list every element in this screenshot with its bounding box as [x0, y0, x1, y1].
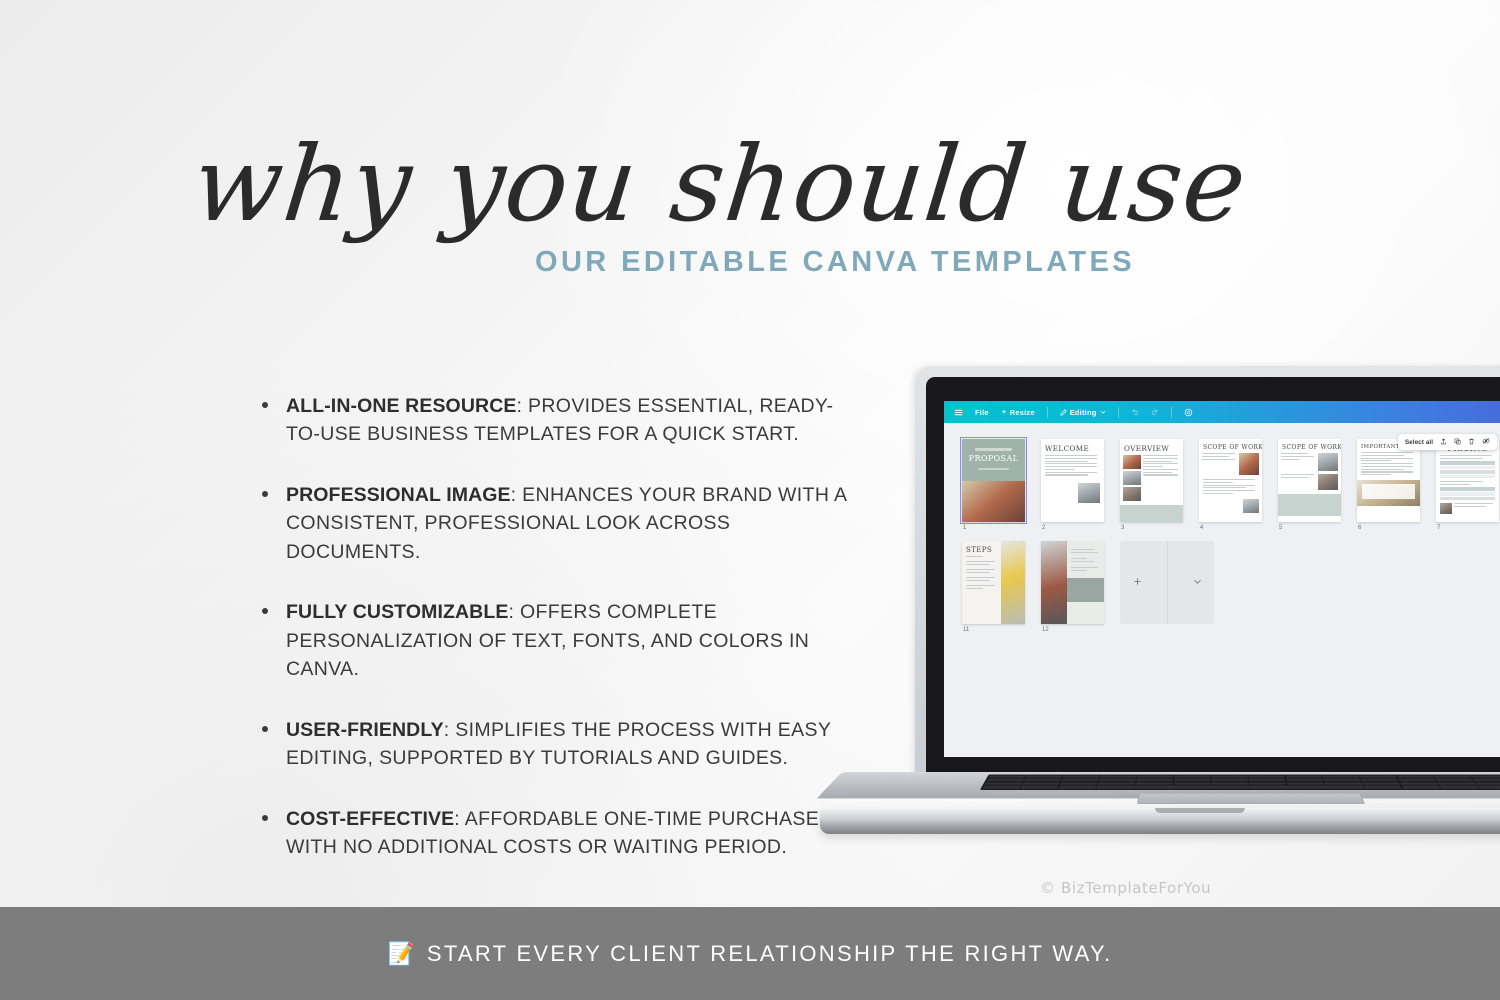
divider — [1167, 541, 1168, 624]
laptop-lid: File Resize E — [915, 366, 1500, 784]
pencil-icon — [1060, 409, 1067, 416]
page-number: 3 — [1120, 525, 1183, 531]
hide-eye-slash-icon[interactable] — [1482, 437, 1490, 447]
page-thumb-preview[interactable]: SCOPE OF WORK — [1199, 439, 1262, 522]
page-thumbnail[interactable]: WELCOME 2 — [1041, 439, 1104, 531]
memo-pencil-icon: 📝 — [387, 943, 414, 965]
page-number: 11 — [962, 627, 1025, 633]
page-title: why you should use — [0, 130, 1500, 239]
list-item-term: USER-FRIENDLY — [286, 719, 444, 741]
slide-canvas: why you should use OUR EDITABLE CANVA TE… — [0, 0, 1500, 1000]
list-item-term: ALL-IN-ONE RESOURCE — [286, 395, 516, 417]
undo-arrow-icon[interactable] — [1131, 408, 1139, 416]
page-thumbnail[interactable]: SCOPE OF WORK — [1278, 439, 1341, 531]
page-thumb-title: OVERVIEW — [1120, 439, 1183, 455]
toolbar-divider — [1118, 407, 1119, 418]
bullet-dot-icon — [262, 491, 268, 497]
sparkle-icon — [1001, 409, 1007, 415]
toolbar-divider — [1047, 407, 1048, 418]
page-thumb-preview[interactable]: IMPORTANT SCHEDULE — [1357, 439, 1420, 522]
page-thumbnail[interactable]: PROPOSAL 1 — [962, 439, 1025, 531]
page-thumb-preview[interactable]: PROPOSAL — [962, 439, 1025, 522]
page-number: 12 — [1041, 627, 1104, 633]
page-thumbnail[interactable]: IMPORTANT SCHEDULE 6 — [1357, 439, 1420, 531]
page-thumbnail[interactable]: OVERVIEW — [1120, 439, 1183, 531]
watermark: © BizTemplateForYou — [1040, 879, 1211, 897]
page-thumb-title: SCOPE OF WORK — [1278, 439, 1341, 453]
add-page-placeholder[interactable] — [1120, 541, 1214, 633]
laptop-bezel: File Resize E — [926, 377, 1500, 773]
canva-menu-editing[interactable]: Editing — [1060, 408, 1106, 417]
canva-menu-resize[interactable]: Resize — [1001, 408, 1035, 417]
page-number: 2 — [1041, 525, 1104, 531]
page-number: 6 — [1357, 525, 1420, 531]
list-item-term: PROFESSIONAL IMAGE — [286, 484, 511, 506]
page-thumb-title: STEPS — [962, 541, 1001, 556]
chevron-down-icon[interactable] — [1193, 577, 1202, 588]
duplicate-icon[interactable] — [1454, 438, 1461, 447]
page-thumb-title: WELCOME — [1041, 439, 1104, 455]
select-all-label[interactable]: Select all — [1405, 439, 1433, 446]
laptop-front-edge — [820, 808, 1500, 834]
page-number: 1 — [962, 525, 1025, 531]
page-thumbnail[interactable]: SCOPE OF WORK — [1199, 439, 1262, 531]
canva-app-screen: File Resize E — [944, 401, 1500, 757]
page-subtitle: OUR EDITABLE CANVA TEMPLATES — [0, 246, 1500, 279]
laptop-keyboard — [980, 774, 1500, 790]
footer-tagline: START EVERY CLIENT RELATIONSHIP THE RIGH… — [427, 941, 1113, 967]
list-item: USER-FRIENDLY: SIMPLIFIES THE PROCESS WI… — [258, 716, 858, 773]
list-item: ALL-IN-ONE RESOURCE: PROVIDES ESSENTIAL,… — [258, 392, 858, 449]
bullet-dot-icon — [262, 402, 268, 408]
bullet-dot-icon — [262, 815, 268, 821]
page-thumbnail[interactable]: PRICING — [1436, 439, 1499, 531]
list-item: PROFESSIONAL IMAGE: ENHANCES YOUR BRAND … — [258, 481, 858, 566]
laptop-deck — [817, 772, 1500, 798]
page-thumb-preview[interactable]: SCOPE OF WORK — [1278, 439, 1341, 522]
page-thumb-title: PROPOSAL — [962, 453, 1025, 465]
trash-icon[interactable] — [1468, 438, 1475, 447]
page-thumb-preview[interactable] — [1041, 541, 1104, 624]
list-item-term: FULLY CUSTOMIZABLE — [286, 601, 508, 623]
toolbar-divider — [1171, 407, 1172, 418]
laptop-mockup: File Resize E — [820, 366, 1500, 866]
hamburger-menu-icon[interactable] — [954, 408, 963, 417]
laptop-base — [820, 772, 1500, 836]
add-page-area[interactable] — [1120, 541, 1214, 624]
list-item: COST-EFFECTIVE: AFFORDABLE ONE-TIME PURC… — [258, 805, 858, 862]
benefits-list: ALL-IN-ONE RESOURCE: PROVIDES ESSENTIAL,… — [258, 392, 858, 862]
share-export-icon[interactable] — [1440, 438, 1447, 447]
footer-bar: 📝 START EVERY CLIENT RELATIONSHIP THE RI… — [0, 907, 1500, 1000]
page-thumb-title: SCOPE OF WORK — [1199, 439, 1262, 453]
redo-arrow-icon[interactable] — [1151, 408, 1159, 416]
list-item-term: COST-EFFECTIVE — [286, 808, 454, 830]
bullet-dot-icon — [262, 726, 268, 732]
page-thumbnail[interactable]: STEPS — [962, 541, 1025, 633]
page-thumbnail-grid: PROPOSAL 1 WELCOME — [944, 423, 1500, 633]
page-thumbnail[interactable]: 12 — [1041, 541, 1104, 633]
page-thumb-preview[interactable]: STEPS — [962, 541, 1025, 624]
page-number: 7 — [1436, 525, 1499, 531]
plus-icon[interactable] — [1133, 577, 1142, 588]
bullet-dot-icon — [262, 608, 268, 614]
cloud-sync-icon[interactable] — [1184, 408, 1193, 417]
page-thumb-preview[interactable]: OVERVIEW — [1120, 439, 1183, 522]
page-thumb-preview[interactable]: WELCOME — [1041, 439, 1104, 522]
page-thumb-preview[interactable]: PRICING — [1436, 439, 1499, 522]
canva-menu-file[interactable]: File — [975, 408, 989, 417]
list-item: FULLY CUSTOMIZABLE: OFFERS COMPLETE PERS… — [258, 598, 858, 683]
canva-toolbar: File Resize E — [944, 401, 1500, 423]
laptop-latch-notch — [1155, 808, 1245, 813]
page-number: 4 — [1199, 525, 1262, 531]
chevron-down-icon — [1100, 409, 1106, 415]
page-number: 5 — [1278, 525, 1341, 531]
laptop-trackpad — [1137, 793, 1365, 804]
select-all-toolbar[interactable]: Select all — [1398, 434, 1497, 450]
